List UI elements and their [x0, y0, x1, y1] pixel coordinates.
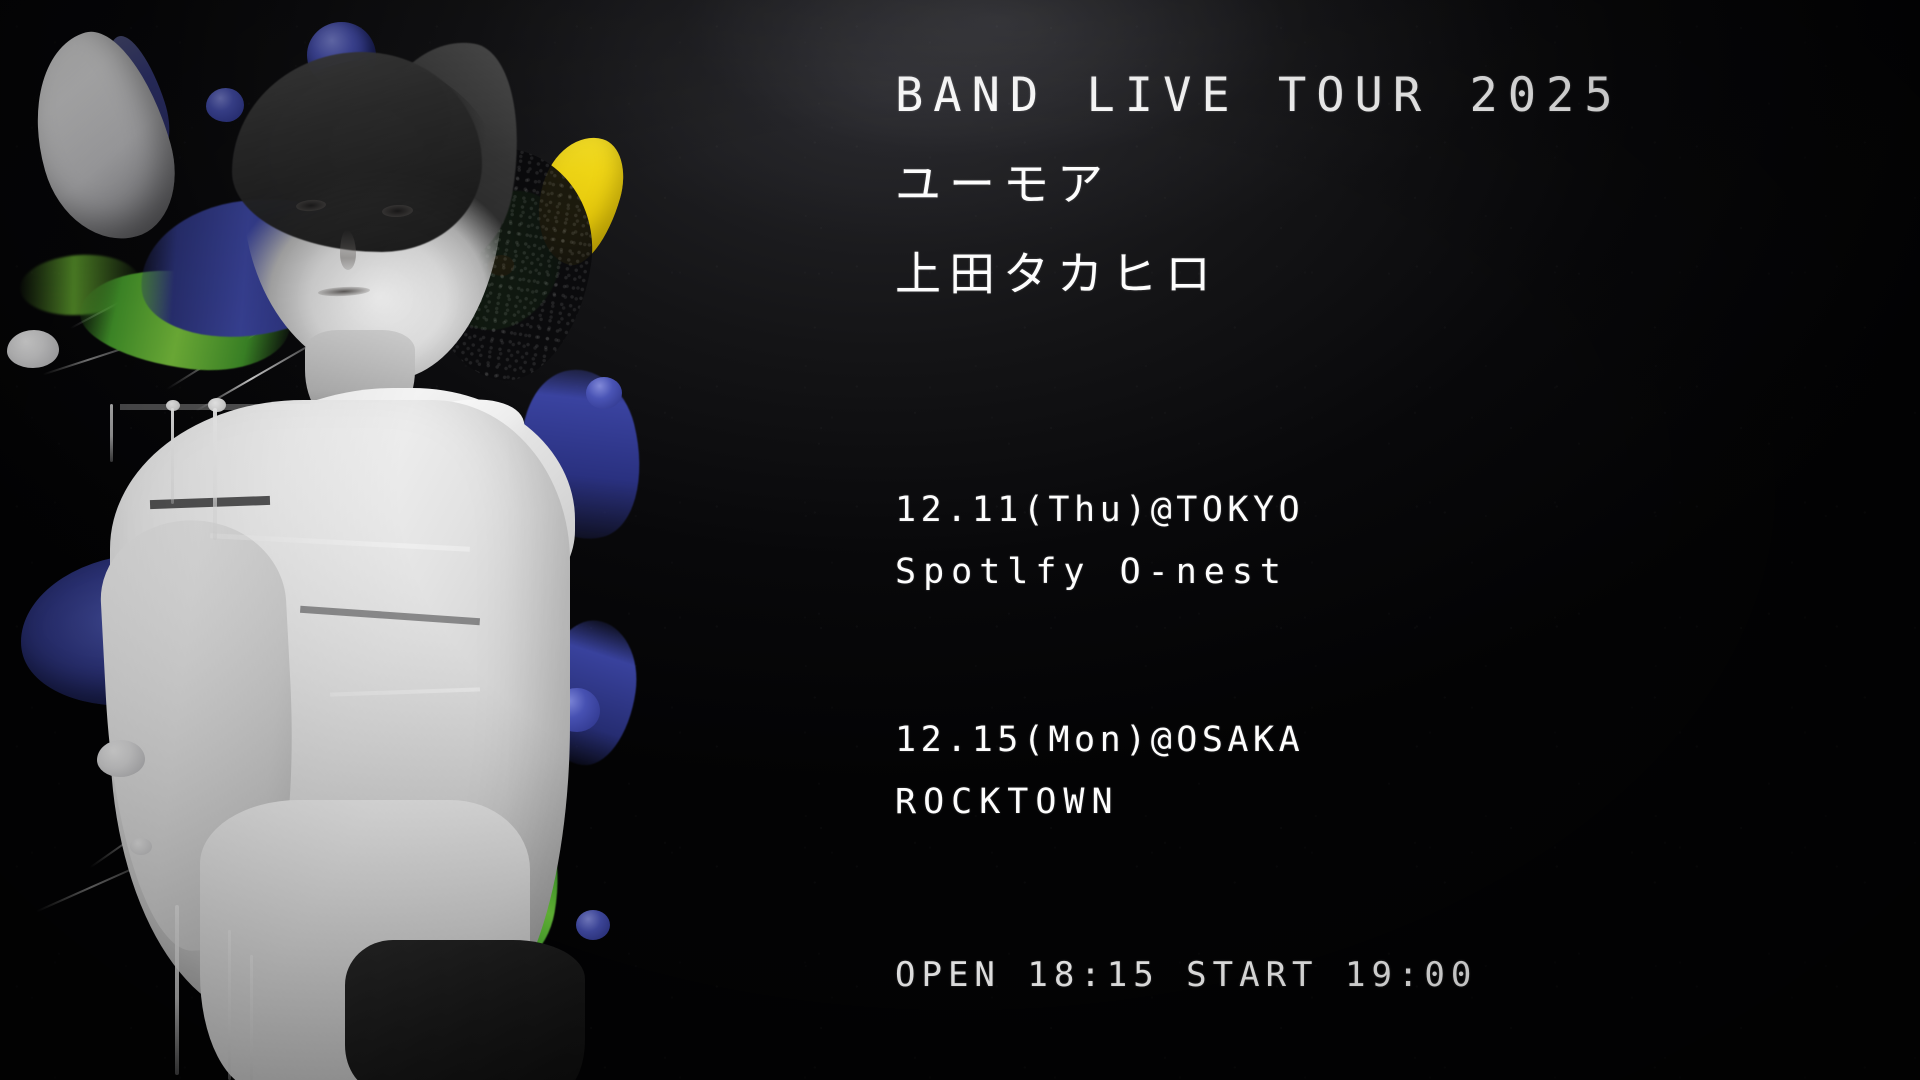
paint-drip: [213, 408, 217, 540]
show-date: 12.15(Mon)@OSAKA: [895, 720, 1304, 760]
open-start-times: OPEN 18:15 START 19:00: [895, 955, 1477, 995]
paint-drip: [171, 408, 174, 504]
tour-poster: BAND LIVE TOUR 2025 ユーモア 上田タカヒロ 12.11(Th…: [0, 0, 1920, 1080]
paint-sphere-white-tiny: [130, 838, 152, 855]
paint-drip: [250, 955, 253, 1080]
paint-drip-head: [208, 398, 226, 412]
artist-name-japanese: 上田タカヒロ: [895, 238, 1219, 304]
tour-title: BAND LIVE TOUR 2025: [895, 68, 1623, 123]
paint-stroke-white-petal: [12, 18, 193, 255]
poster-text-column: BAND LIVE TOUR 2025 ユーモア 上田タカヒロ 12.11(Th…: [895, 0, 1895, 1080]
artwork-collage: [0, 0, 790, 1080]
show-entry-osaka: 12.15(Mon)@OSAKA ROCKTOWN: [895, 720, 1304, 822]
trousers: [345, 940, 585, 1080]
paint-sphere-blue-small: [206, 88, 244, 122]
paint-sphere-blue-right: [586, 377, 622, 409]
show-date: 12.11(Thu)@TOKYO: [895, 490, 1304, 530]
portrait-hair-front: [232, 52, 482, 252]
paint-sphere-blue-bottom: [576, 910, 610, 940]
show-entry-tokyo: 12.11(Thu)@TOKYO Spotlfy O-nest: [895, 490, 1304, 592]
paint-drip: [175, 905, 179, 1075]
paint-sphere-white-lower: [97, 740, 145, 777]
tour-name-japanese: ユーモア: [895, 148, 1111, 214]
paint-sphere-white-upper: [7, 330, 59, 368]
show-venue: Spotlfy O-nest: [895, 552, 1304, 592]
paint-drip: [110, 404, 113, 462]
show-venue: ROCKTOWN: [895, 782, 1304, 822]
paint-drip: [228, 930, 231, 1080]
